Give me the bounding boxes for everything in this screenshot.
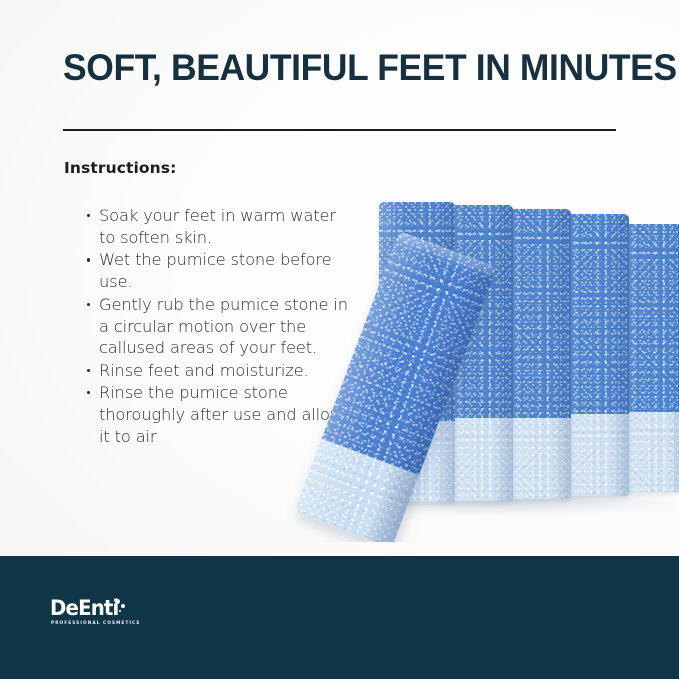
bubble-icon — [119, 610, 121, 612]
bubble-icon — [114, 606, 117, 609]
logo-tagline: PROFESSIONAL COSMETICS — [51, 621, 140, 626]
product-photo — [283, 186, 679, 542]
infographic-page: SOFT, BEAUTIFUL FEET IN MINUTES Instruct… — [0, 0, 679, 679]
title-divider — [63, 129, 616, 131]
bubble-icon — [121, 604, 125, 608]
bubble-icon — [115, 599, 120, 604]
instructions-heading: Instructions: — [64, 159, 176, 177]
logo-wordmark: DeEnti — [50, 598, 118, 619]
page-title: SOFT, BEAUTIFUL FEET IN MINUTES — [63, 48, 602, 88]
brand-logo: DeEnti PROFESSIONAL COSMETICS — [50, 598, 170, 634]
